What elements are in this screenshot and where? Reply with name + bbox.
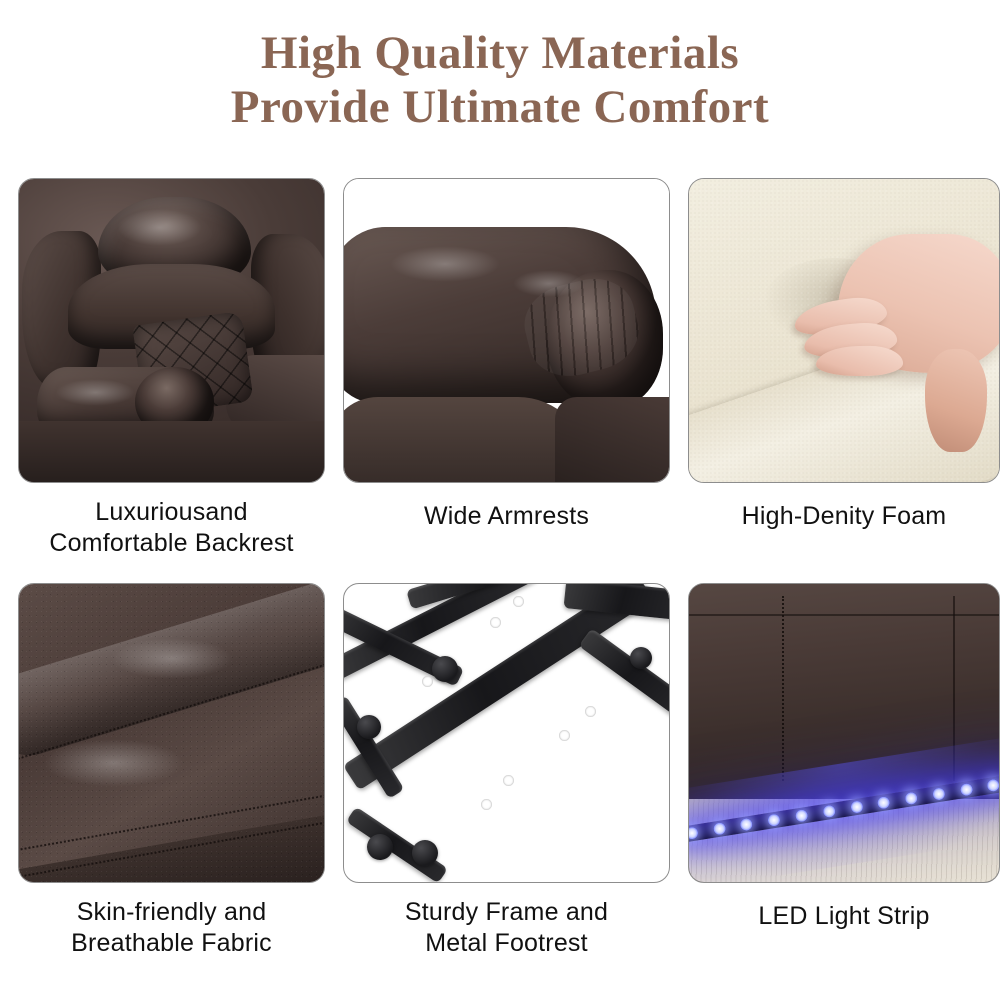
feature-infographic-page: High Quality Materials Provide Ultimate … [0,0,1000,1000]
feature-cell-fabric [18,583,325,883]
feature-cell-frame [343,583,670,883]
feature-caption-backrest: Luxuriousand Comfortable Backrest [18,483,325,583]
feature-image-foam [688,178,1000,483]
feature-cell-foam [688,178,1000,483]
feature-caption-frame: Sturdy Frame and Metal Footrest [343,883,670,968]
feature-cell-armrests [343,178,670,483]
feature-image-frame [343,583,670,883]
page-title: High Quality Materials Provide Ultimate … [0,26,1000,134]
feature-grid: Luxuriousand Comfortable Backrest Wide A… [18,178,982,968]
armrest-illustration [344,179,669,482]
feature-caption-fabric: Skin-friendly and Breathable Fabric [18,883,325,968]
led-strip-illustration [689,584,999,882]
leather-fabric-illustration [19,584,324,882]
feature-image-fabric [18,583,325,883]
feature-caption-led: LED Light Strip [688,883,1000,968]
recliner-backrest-illustration [19,179,324,482]
page-title-line-2: Provide Ultimate Comfort [0,80,1000,134]
metal-frame-illustration [344,584,669,882]
feature-image-backrest [18,178,325,483]
foam-hand-illustration [689,179,999,482]
feature-caption-armrests: Wide Armrests [343,483,670,583]
feature-cell-backrest [18,178,325,483]
feature-image-led [688,583,1000,883]
feature-image-armrests [343,178,670,483]
feature-cell-led [688,583,1000,883]
page-title-line-1: High Quality Materials [0,26,1000,80]
feature-caption-foam: High-Denity Foam [688,483,1000,583]
